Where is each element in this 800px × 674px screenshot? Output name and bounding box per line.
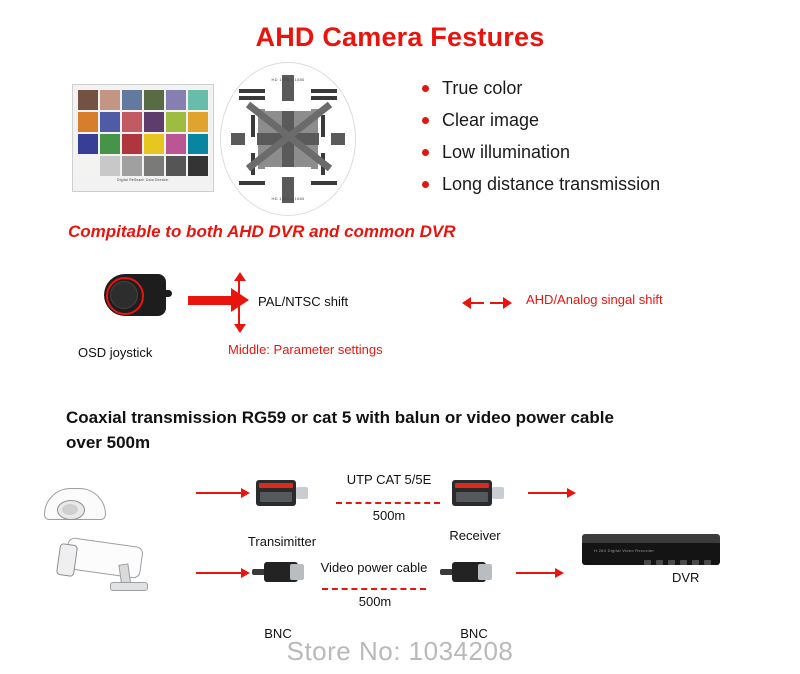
test-chart-bar: [311, 89, 337, 93]
arrow-head: [567, 488, 576, 498]
utp-distance-label: 500m: [336, 508, 442, 523]
left-arrow-icon: [462, 297, 484, 309]
feature-label: Long distance transmission: [442, 174, 660, 195]
color-swatch: [122, 112, 142, 132]
pal-ntsc-label: PAL/NTSC shift: [258, 294, 348, 309]
color-swatch: [188, 134, 208, 154]
receiver-red-stripe: [455, 483, 489, 488]
color-swatch: [122, 134, 142, 154]
feature-list: True color Clear image Low illumination …: [422, 78, 772, 206]
feature-label: Low illumination: [442, 142, 570, 163]
bullet-dot-icon: [422, 181, 429, 188]
color-swatch: [78, 112, 98, 132]
osd-joystick-caption: OSD joystick: [78, 345, 152, 360]
test-chart-circle: HD 1920 x 1080 HD 1920 x 1080: [220, 62, 356, 216]
arrow-head: [555, 568, 564, 578]
dvr-button: [704, 560, 711, 565]
arrow-head: [241, 568, 250, 578]
color-swatch: [100, 156, 120, 176]
dome-camera-lens-inner: [62, 504, 78, 515]
color-swatch: [188, 112, 208, 132]
joystick-highlight-ring: [106, 277, 144, 315]
bullet-dot-icon: [422, 117, 429, 124]
osd-joystick-image: [98, 268, 172, 326]
utp-cable-dashed-line: [336, 502, 440, 504]
color-swatch: [100, 90, 120, 110]
arrow-shaft: [238, 281, 240, 301]
coaxial-heading-line1: Coaxial transmission RG59 or cat 5 with …: [66, 405, 766, 430]
dvr-device-image: H.264 Digital Video Recorder: [582, 534, 720, 568]
color-swatch: [78, 90, 98, 110]
receiver-module: [452, 480, 498, 506]
arrow-receiver-to-dvr-icon: [528, 488, 576, 498]
page-title: AHD Camera Festures: [0, 22, 800, 53]
page-root: AHD Camera Festures: [0, 0, 800, 674]
receiver-label: Receiver: [420, 528, 530, 543]
color-checker-caption: Digital ReSeach ColorChecker: [78, 178, 208, 182]
test-chart-bar: [239, 181, 265, 185]
video-power-cable-label: Video power cable: [314, 560, 434, 575]
color-swatch: [122, 156, 142, 176]
transmitter-module: [256, 480, 302, 506]
transmitter-label: Transimitter: [222, 534, 342, 549]
test-chart-bar: [311, 96, 337, 100]
right-arrow-icon: [490, 297, 512, 309]
bullet-camera-base: [110, 582, 148, 591]
color-swatch: [188, 156, 208, 176]
arrow-bnc-to-dvr-icon: [516, 568, 564, 578]
down-arrow-icon: [236, 304, 246, 333]
arrow-camera-to-bnc-icon: [196, 568, 250, 578]
arrow-head: [234, 272, 246, 281]
compatibility-heading: Compitable to both AHD DVR and common DV…: [68, 222, 456, 242]
bnc-ring: [478, 564, 492, 580]
dvr-button: [644, 560, 651, 565]
middle-parameter-label: Middle: Parameter settings: [228, 342, 383, 357]
arrow-head: [503, 297, 512, 309]
resolution-test-chart: HD 1920 x 1080 HD 1920 x 1080: [220, 62, 354, 214]
receiver-terminal: [456, 492, 488, 502]
arrow-shaft: [188, 296, 232, 305]
feature-label: Clear image: [442, 110, 539, 131]
color-swatch: [166, 90, 186, 110]
list-item: Clear image: [422, 110, 772, 131]
test-chart-gap: [265, 167, 311, 177]
bullet-dot-icon: [422, 85, 429, 92]
color-swatch: [144, 134, 164, 154]
dvr-button: [656, 560, 663, 565]
receiver-bnc-port: [492, 487, 504, 499]
transmitter-terminal: [260, 492, 292, 502]
bnc-connector-left: [252, 562, 306, 582]
test-chart-bar: [321, 115, 325, 137]
arrow-shaft: [516, 572, 556, 574]
arrow-shaft: [490, 302, 504, 304]
feature-label: True color: [442, 78, 522, 99]
color-swatch: [166, 156, 186, 176]
arrow-head: [241, 488, 250, 498]
updown-arrows-icon: [232, 272, 248, 332]
color-swatch: [144, 90, 164, 110]
bullet-dot-icon: [422, 149, 429, 156]
up-arrow-icon: [236, 272, 246, 301]
arrow-shaft: [196, 572, 242, 574]
bnc-ring: [290, 564, 304, 580]
color-swatch: [144, 156, 164, 176]
arrow-shaft: [238, 304, 240, 324]
color-swatch: [78, 156, 98, 176]
arrow-camera-to-transmitter-icon: [196, 488, 250, 498]
color-swatch: [188, 90, 208, 110]
list-item: Long distance transmission: [422, 174, 772, 195]
transmitter-bnc-port: [296, 487, 308, 499]
leftright-arrows-icon: [462, 294, 514, 308]
transmitter-red-stripe: [259, 483, 293, 488]
color-swatch: [100, 134, 120, 154]
ahd-analog-label: AHD/Analog singal shift: [526, 292, 663, 307]
dvr-button: [668, 560, 675, 565]
test-chart-label-top: HD 1920 x 1080: [221, 77, 355, 82]
color-checker-chart: Digital ReSeach ColorChecker: [72, 84, 214, 192]
dvr-label: DVR: [672, 570, 699, 585]
dvr-button: [680, 560, 687, 565]
store-watermark: Store No: 1034208: [0, 636, 800, 667]
test-chart-label-bottom: HD 1920 x 1080: [221, 196, 355, 201]
coaxial-heading: Coaxial transmission RG59 or cat 5 with …: [66, 405, 766, 455]
dvr-button: [692, 560, 699, 565]
coaxial-heading-line2: over 500m: [66, 430, 766, 455]
list-item: True color: [422, 78, 772, 99]
bullet-camera-lens: [56, 543, 78, 577]
color-swatch: [166, 134, 186, 154]
color-swatch: [144, 112, 164, 132]
video-power-distance-label: 500m: [322, 594, 428, 609]
color-swatch: [122, 90, 142, 110]
list-item: Low illumination: [422, 142, 772, 163]
test-chart-bar: [239, 96, 265, 100]
bullet-camera-image: [58, 520, 174, 592]
joystick-connector: [158, 290, 172, 297]
utp-cat-label: UTP CAT 5/5E: [336, 472, 442, 487]
test-chart-bar: [311, 181, 337, 185]
arrow-shaft: [196, 492, 242, 494]
dvr-face-text: H.264 Digital Video Recorder: [594, 548, 654, 553]
bnc-connector-right: [440, 562, 494, 582]
color-swatch: [166, 112, 186, 132]
test-chart-bar: [239, 89, 265, 93]
color-swatch: [78, 134, 98, 154]
video-power-dashed-line: [322, 588, 426, 590]
arrow-head: [234, 324, 246, 333]
arrow-shaft: [528, 492, 568, 494]
dvr-top-panel: [582, 534, 720, 543]
color-checker-grid: [78, 90, 208, 176]
dvr-front-panel: [582, 543, 720, 565]
color-swatch: [100, 112, 120, 132]
test-chart-bar: [251, 115, 255, 137]
arrow-shaft: [470, 302, 484, 304]
test-chart-gap: [265, 101, 311, 111]
dome-camera-image: [44, 478, 110, 522]
